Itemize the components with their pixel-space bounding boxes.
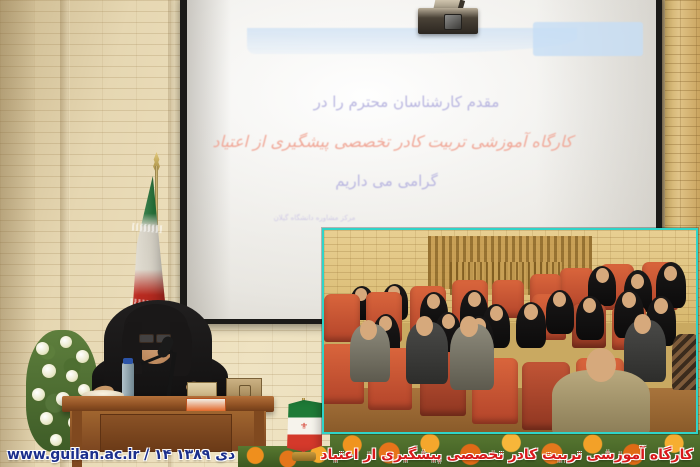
slide-banner-shape-2 — [533, 22, 643, 56]
slide-footer-text: مرکز مشاوره دانشگاه گیلان — [187, 214, 526, 222]
projector-lens — [444, 14, 462, 30]
slide-line-1: مقدم کارشناسان محترم را در — [195, 93, 618, 111]
caption-website-date: www.guilan.ac.ir / ۱۴ دی ۱۳۸۹ — [7, 447, 235, 463]
inset-photo-audience — [322, 228, 698, 434]
desk-flag-base — [292, 452, 316, 461]
screenshot-root: مقدم کارشناسان محترم را در کارگاه آموزشی… — [0, 0, 700, 467]
projector — [418, 8, 478, 34]
water-bottle-cap — [123, 358, 133, 364]
screen-shadow-left — [187, 0, 231, 319]
tissue-box — [186, 398, 226, 412]
slide-line-2: کارگاه آموزشی تربیت کادر تخصصی پیشگیری ا… — [187, 132, 604, 151]
slide-line-3: گرامی می داریم — [187, 172, 598, 190]
caption-event-title: کارگاه آموزشی تربیت کادر تخصصی پیشگیری ا… — [320, 447, 693, 463]
podium-desk-top — [62, 396, 274, 412]
flag-emblem: ⚜ — [299, 421, 309, 431]
slide-banner-shape — [247, 28, 577, 54]
